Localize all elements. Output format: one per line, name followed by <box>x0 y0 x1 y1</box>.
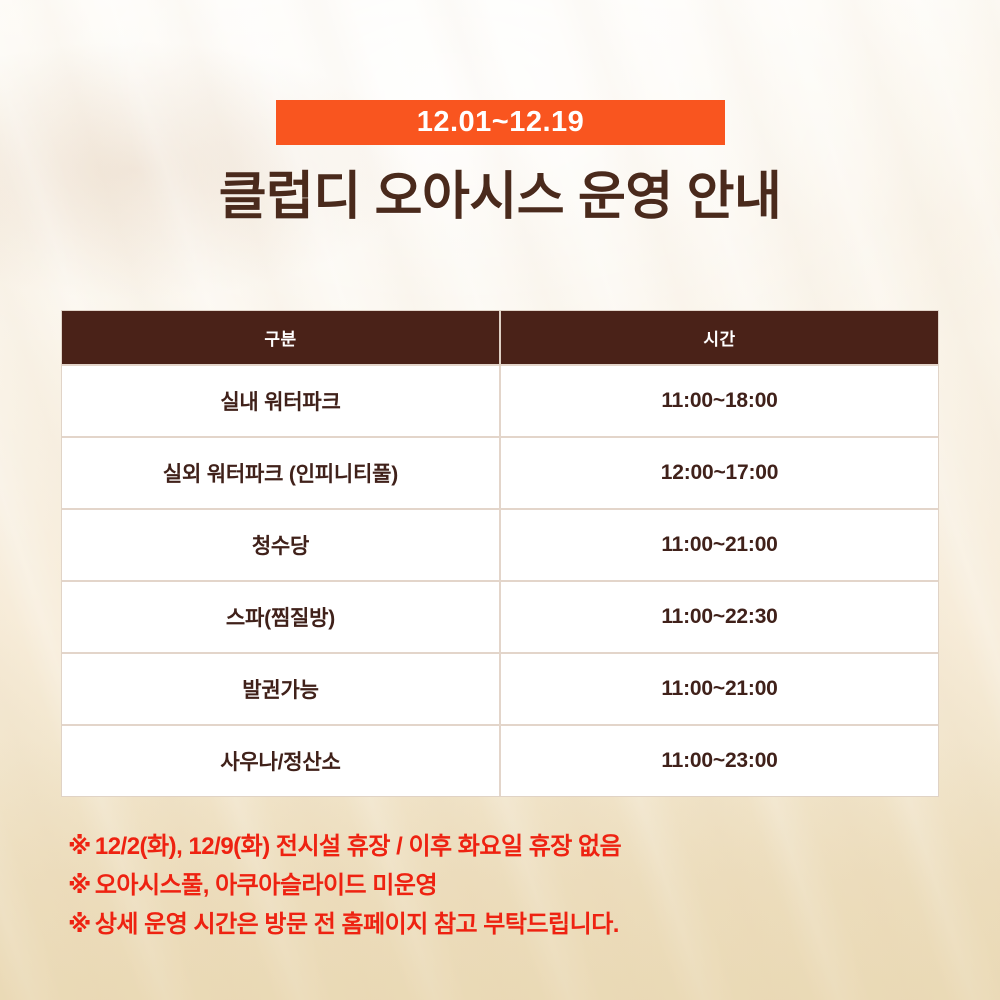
table-header-row: 구분 시간 <box>62 311 938 365</box>
table-row: 실내 워터파크 11:00~18:00 <box>62 365 938 437</box>
reference-mark-icon: ※ <box>68 866 91 905</box>
table-row: 발권가능 11:00~21:00 <box>62 653 938 725</box>
date-range-text: 12.01~12.19 <box>417 108 585 137</box>
facility-hours: 11:00~21:00 <box>500 653 938 725</box>
facility-name: 발권가능 <box>62 653 500 725</box>
facility-hours: 11:00~21:00 <box>500 509 938 581</box>
facility-hours: 11:00~23:00 <box>500 725 938 796</box>
footnote-list: ※12/2(화), 12/9(화) 전시설 휴장 / 이후 화요일 휴장 없음 … <box>68 827 948 944</box>
operating-hours-table: 구분 시간 실내 워터파크 11:00~18:00 실외 워터파크 (인피니티풀… <box>62 311 938 796</box>
facility-hours: 12:00~17:00 <box>500 437 938 509</box>
page-title: 클럽디 오아시스 운영 안내 <box>0 168 1000 228</box>
column-header-category: 구분 <box>62 311 500 365</box>
facility-name: 스파(찜질방) <box>62 581 500 653</box>
poster-canvas: 12.01~12.19 클럽디 오아시스 운영 안내 구분 시간 실내 워터파크… <box>0 0 1000 1000</box>
table-row: 사우나/정산소 11:00~23:00 <box>62 725 938 796</box>
table-row: 실외 워터파크 (인피니티풀) 12:00~17:00 <box>62 437 938 509</box>
facility-name: 사우나/정산소 <box>62 725 500 796</box>
table-row: 청수당 11:00~21:00 <box>62 509 938 581</box>
footnote-text: 오아시스풀, 아쿠아슬라이드 미운영 <box>95 872 437 899</box>
facility-hours: 11:00~22:30 <box>500 581 938 653</box>
footnote-item: ※12/2(화), 12/9(화) 전시설 휴장 / 이후 화요일 휴장 없음 <box>68 827 948 866</box>
table-body: 실내 워터파크 11:00~18:00 실외 워터파크 (인피니티풀) 12:0… <box>62 365 938 796</box>
table-header: 구분 시간 <box>62 311 938 365</box>
facility-hours: 11:00~18:00 <box>500 365 938 437</box>
facility-name: 실외 워터파크 (인피니티풀) <box>62 437 500 509</box>
footnote-text: 12/2(화), 12/9(화) 전시설 휴장 / 이후 화요일 휴장 없음 <box>95 833 621 860</box>
footnote-text: 상세 운영 시간은 방문 전 홈페이지 참고 부탁드립니다. <box>95 911 619 938</box>
facility-name: 청수당 <box>62 509 500 581</box>
column-header-time: 시간 <box>500 311 938 365</box>
footnote-item: ※상세 운영 시간은 방문 전 홈페이지 참고 부탁드립니다. <box>68 905 948 944</box>
reference-mark-icon: ※ <box>68 905 91 944</box>
footnote-item: ※오아시스풀, 아쿠아슬라이드 미운영 <box>68 866 948 905</box>
facility-name: 실내 워터파크 <box>62 365 500 437</box>
table-row: 스파(찜질방) 11:00~22:30 <box>62 581 938 653</box>
reference-mark-icon: ※ <box>68 827 91 866</box>
poster-content: 12.01~12.19 클럽디 오아시스 운영 안내 구분 시간 실내 워터파크… <box>0 0 1000 1000</box>
date-range-badge: 12.01~12.19 <box>276 100 725 145</box>
